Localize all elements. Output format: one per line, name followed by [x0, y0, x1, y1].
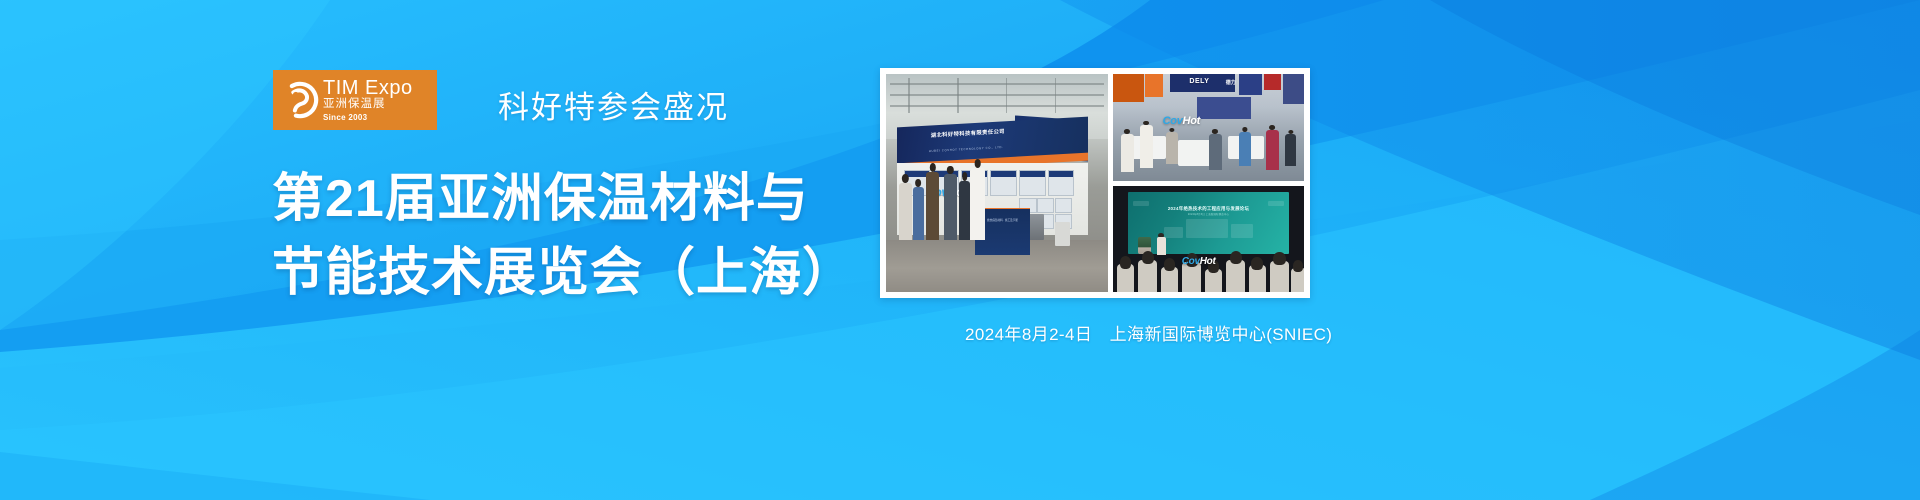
covhot-brand-watermark: CovHot [1163, 115, 1200, 127]
photo-collage: 湖北科好特科技有限责任公司 HUBEI COVHOT TECHNOLOGY CO… [880, 68, 1310, 298]
booth-counter-text: 绝热保温材料 · 施工及节能 [979, 218, 1026, 222]
covhot-prefix: Cov [1182, 256, 1200, 267]
banner-subtitle: 科好特参会盛况 [498, 82, 729, 127]
promo-banner: TIM Expo 亚洲保温展 Since 2003 科好特参会盛况 第21届亚洲… [0, 0, 1920, 500]
banner-content: TIM Expo 亚洲保温展 Since 2003 科好特参会盛况 第21届亚洲… [0, 0, 880, 500]
event-date-venue: 2024年8月2-4日 上海新国际博览中心(SNIEC) [965, 320, 1332, 345]
covhot-prefix: Cov [1163, 115, 1183, 127]
logo-since-text: Since 2003 [323, 114, 413, 122]
presentation-screen: 2024年绝热技术的工程应用与发展论坛 2024年8月3日 上海新国际博览中心 [1128, 192, 1288, 254]
banner-headline: 第21届亚洲保温材料与 节能技术展览会（上海） [272, 163, 855, 311]
covhot-brand-watermark: CovHot [1182, 256, 1216, 267]
exhibition-booth-photo: 湖北科好特科技有限责任公司 HUBEI COVHOT TECHNOLOGY CO… [886, 74, 1108, 292]
collage-right-column: DELY 德力 [1113, 74, 1304, 292]
tim-expo-swirl-icon [281, 81, 319, 119]
dely-sign-text-cn: 德力 [1226, 79, 1236, 86]
logo-text-block: TIM Expo 亚洲保温展 Since 2003 [323, 78, 413, 122]
tim-expo-logo[interactable]: TIM Expo 亚洲保温展 Since 2003 [273, 70, 437, 130]
forum-presentation-photo: 2024年绝热技术的工程应用与发展论坛 2024年8月3日 上海新国际博览中心 [1113, 186, 1304, 292]
dely-sign-text: DELY [1189, 78, 1209, 85]
screen-subtitle-text: 2024年8月3日 上海新国际博览中心 [1151, 212, 1267, 216]
logo-subtitle-cn: 亚洲保温展 [323, 99, 413, 111]
visitors-meeting-photo: DELY 德力 [1113, 74, 1304, 181]
headline-line-2: 节能技术展览会（上海） [272, 237, 855, 311]
covhot-suffix: Hot [1200, 256, 1216, 267]
logo-title: TIM Expo [323, 78, 413, 98]
covhot-suffix: Hot [1183, 115, 1200, 127]
screen-title-text: 2024年绝热技术的工程应用与发展论坛 [1144, 206, 1272, 212]
headline-line-1: 第21届亚洲保温材料与 [272, 163, 855, 237]
